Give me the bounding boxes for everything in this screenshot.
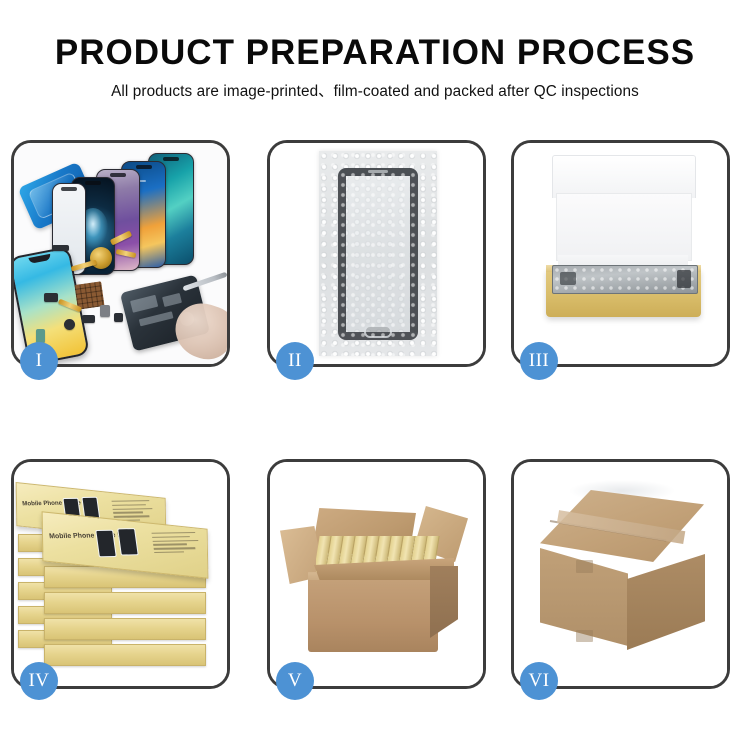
step-badge-6: VI bbox=[520, 662, 558, 700]
step-3-image bbox=[514, 143, 727, 364]
sealed-carton-illustration bbox=[514, 462, 727, 686]
step-6-image bbox=[514, 462, 727, 686]
phone-print-icon bbox=[95, 530, 117, 558]
carton-side-icon bbox=[627, 554, 705, 650]
box-stack: Mobile Phone Spare Parts Mobile Phone Sp… bbox=[14, 462, 227, 686]
open-carton-illustration bbox=[270, 462, 483, 686]
step-2-image bbox=[270, 143, 483, 364]
phone-screen-frame-icon bbox=[338, 168, 418, 340]
speaker-coil-icon bbox=[90, 247, 112, 269]
small-component-icon bbox=[36, 329, 45, 343]
step-badge-5: V bbox=[276, 662, 314, 700]
step-4-image: Mobile Phone Spare Parts Mobile Phone Sp… bbox=[14, 462, 227, 686]
small-component-icon bbox=[114, 313, 123, 322]
small-component-icon bbox=[100, 305, 110, 317]
small-component-icon bbox=[44, 293, 58, 302]
process-step-grid: I II III bbox=[11, 140, 739, 740]
step-1-image bbox=[14, 143, 227, 364]
phone-print-icon bbox=[117, 528, 139, 556]
process-step-panel-2[interactable]: II bbox=[267, 140, 486, 367]
stacked-box bbox=[44, 644, 206, 666]
foam-box-illustration bbox=[514, 143, 727, 364]
step-badge-1: I bbox=[20, 342, 58, 380]
carton-side-icon bbox=[430, 566, 458, 638]
stacked-box bbox=[44, 618, 206, 640]
process-step-panel-3[interactable]: III bbox=[511, 140, 730, 367]
small-component-icon bbox=[64, 319, 75, 330]
carton-tab bbox=[576, 560, 593, 573]
process-step-panel-1[interactable]: I bbox=[11, 140, 230, 367]
page-title: PRODUCT PREPARATION PROCESS bbox=[0, 33, 750, 73]
page-subtitle: All products are image-printed、film-coat… bbox=[0, 82, 750, 102]
carton-body-icon bbox=[308, 580, 438, 652]
process-step-panel-4[interactable]: Mobile Phone Spare Parts Mobile Phone Sp… bbox=[11, 459, 230, 689]
step-badge-2: II bbox=[276, 342, 314, 380]
carton-tab bbox=[576, 630, 593, 642]
wrapped-screen-icon bbox=[552, 265, 698, 294]
step-badge-3: III bbox=[520, 342, 558, 380]
process-step-panel-5[interactable]: V bbox=[267, 459, 486, 689]
step-5-image bbox=[270, 462, 483, 686]
parts-collection-illustration bbox=[14, 143, 227, 364]
page-header: PRODUCT PREPARATION PROCESS All products… bbox=[0, 0, 750, 102]
small-component-icon bbox=[52, 245, 69, 251]
box-lid-icon bbox=[552, 155, 696, 198]
stacked-box bbox=[44, 592, 206, 614]
box-stack-illustration: Mobile Phone Spare Parts Mobile Phone Sp… bbox=[14, 462, 227, 686]
box-print-lines bbox=[152, 532, 203, 556]
foam-sheet-icon bbox=[556, 193, 692, 261]
bubble-wrap-icon bbox=[319, 151, 437, 356]
small-component-icon bbox=[82, 315, 95, 323]
bubble-wrapped-screen-illustration bbox=[270, 143, 483, 364]
step-badge-4: IV bbox=[20, 662, 58, 700]
process-step-panel-6[interactable]: VI bbox=[511, 459, 730, 689]
